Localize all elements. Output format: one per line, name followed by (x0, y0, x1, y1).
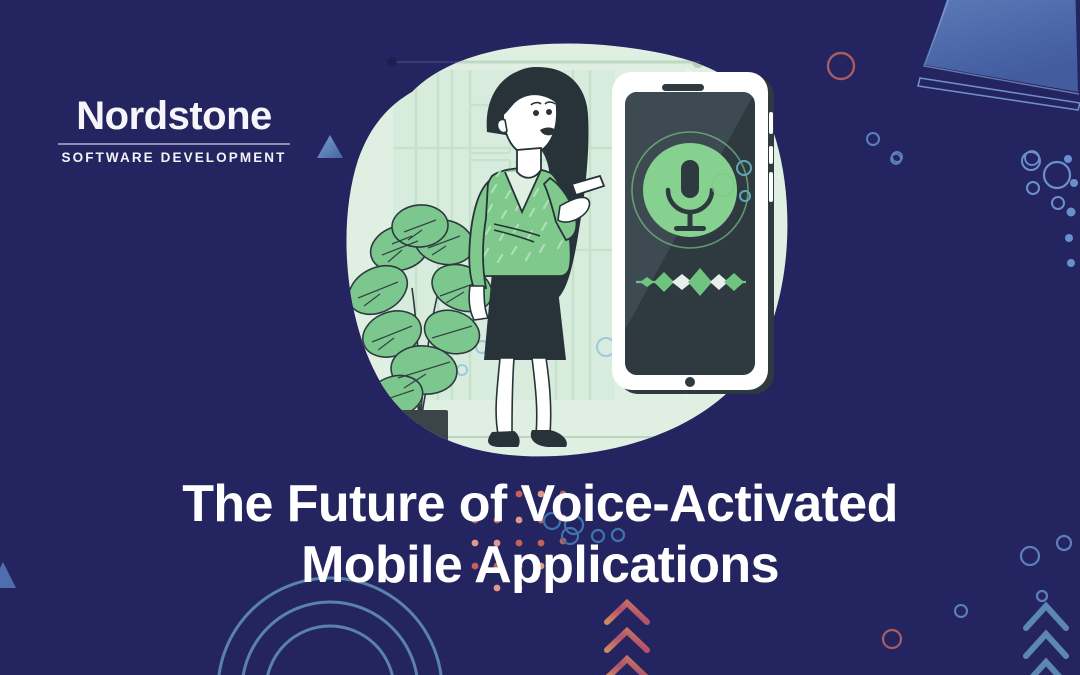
title-line-1: The Future of Voice-Activated (0, 474, 1080, 535)
page-title: The Future of Voice-Activated Mobile App… (0, 474, 1080, 597)
blue-ring-bottom-icon (955, 605, 967, 617)
brand-tagline: SOFTWARE DEVELOPMENT (58, 151, 290, 165)
coral-chevron-arrows (607, 603, 647, 675)
slide-canvas: Nordstone SOFTWARE DEVELOPMENT The Futur… (0, 0, 1080, 675)
brand-name: Nordstone (58, 96, 290, 136)
logo-divider (58, 143, 290, 145)
title-line-2: Mobile Applications (0, 535, 1080, 596)
coral-ring-bottom-icon (883, 630, 901, 648)
blue-chevron-arrows (1026, 606, 1066, 675)
brand-logo[interactable]: Nordstone SOFTWARE DEVELOPMENT (58, 96, 290, 165)
